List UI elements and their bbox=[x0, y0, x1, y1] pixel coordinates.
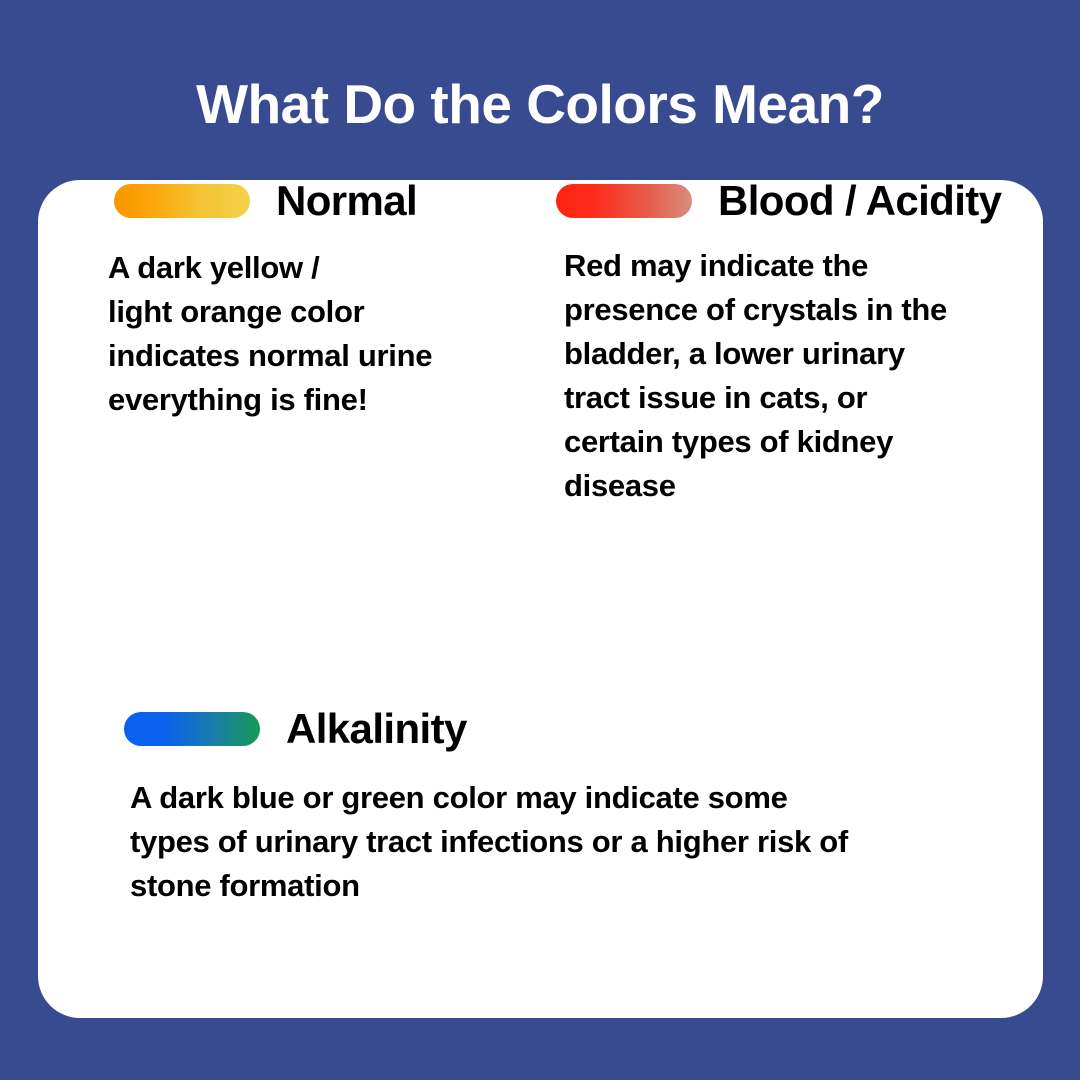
legend-entry-alkalinity-title: Alkalinity bbox=[286, 708, 467, 750]
legend-entry-alkalinity-header: Alkalinity bbox=[82, 708, 1022, 750]
legend-entry-normal-header: Normal bbox=[72, 180, 512, 222]
blood-acidity-color-swatch bbox=[556, 184, 692, 218]
legend-entry-alkalinity: Alkalinity A dark blue or green color ma… bbox=[82, 708, 1022, 908]
legend-entry-normal: Normal A dark yellow / light orange colo… bbox=[72, 180, 512, 422]
legend-entry-blood-acidity-header: Blood / Acidity bbox=[514, 180, 1014, 222]
page-title: What Do the Colors Mean? bbox=[0, 74, 1080, 135]
legend-entry-normal-title: Normal bbox=[276, 180, 417, 222]
legend-entry-normal-description: A dark yellow / light orange color indic… bbox=[108, 246, 512, 422]
legend-entry-blood-acidity-description: Red may indicate the presence of crystal… bbox=[564, 244, 1064, 508]
alkalinity-color-swatch bbox=[124, 712, 260, 746]
legend-top-columns: Normal A dark yellow / light orange colo… bbox=[38, 180, 1043, 650]
legend-card: Normal A dark yellow / light orange colo… bbox=[38, 180, 1043, 1018]
legend-entry-blood-acidity: Blood / Acidity Red may indicate the pre… bbox=[514, 180, 1014, 508]
normal-color-swatch bbox=[114, 184, 250, 218]
legend-entry-alkalinity-description: A dark blue or green color may indicate … bbox=[130, 776, 1040, 908]
legend-entry-blood-acidity-title: Blood / Acidity bbox=[718, 180, 1001, 222]
poster-root: What Do the Colors Mean? Normal A dark y… bbox=[0, 0, 1080, 1080]
